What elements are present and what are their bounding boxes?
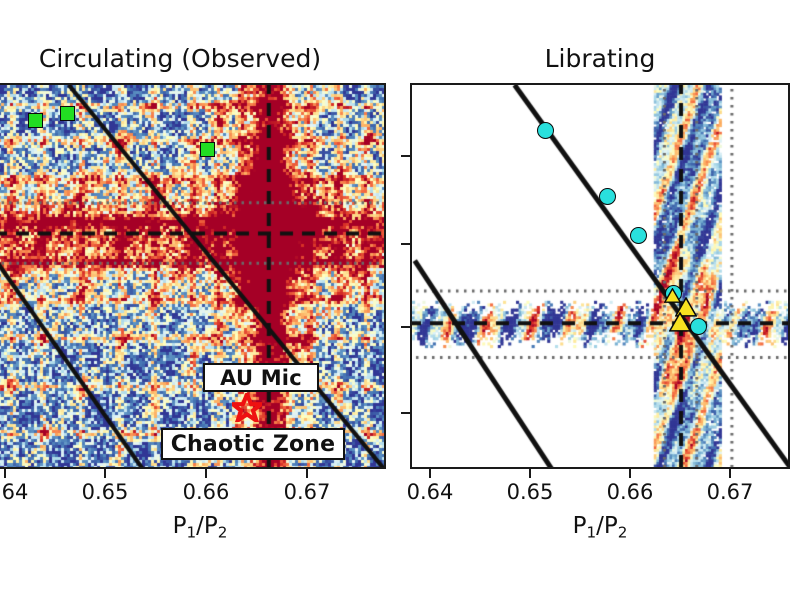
xtick-right-1 [529,469,531,478]
xticklabel-left-1: 0.65 [65,480,145,504]
xtick-left-2 [205,469,207,478]
ytick-right-0 [401,155,410,157]
xticklabel-left-2: 0.66 [166,480,246,504]
plot-axes-librating [410,83,790,469]
xaxis-label-left: P1/P2 [100,513,300,541]
xtick-left-1 [104,469,106,478]
marker-cyan-circle-1 [537,122,554,139]
heatmap-librating [412,85,790,469]
plot-axes-circulating [0,83,386,469]
marker-green-square-1 [28,113,43,128]
xtick-right-0 [429,469,431,478]
xtick-left-3 [306,469,308,478]
ytick-right-1 [401,243,410,245]
ytick-right-3 [401,412,410,414]
marker-star-au-mic [232,393,262,422]
xticklabel-right-2: 0.66 [590,480,670,504]
marker-cyan-circle-3 [630,227,647,244]
xticklabel-left-3: 0.67 [267,480,347,504]
xtick-left-0 [4,469,6,478]
xticklabel-right-0: 0.64 [390,480,470,504]
marker-green-square-3 [200,142,215,157]
panel-title-circulating: Circulating (Observed) [0,44,400,73]
xticklabel-right-3: 0.67 [690,480,770,504]
annotation-au-mic: AU Mic [203,363,319,392]
xaxis-label-right-text: P1/P2 [573,513,628,539]
marker-yellow-triangle-3 [669,312,691,332]
figure-root: Circulating (Observed) 0.64 0.65 0.66 0.… [0,0,800,600]
heatmap-circulating [0,85,386,469]
xticklabel-left-0: 0.64 [0,480,45,504]
xaxis-label-left-text: P1/P2 [173,513,228,539]
xtick-right-3 [729,469,731,478]
annotation-chaotic-zone: Chaotic Zone [161,428,345,460]
marker-green-square-2 [60,106,75,121]
marker-cyan-circle-5 [690,318,707,335]
marker-cyan-circle-2 [599,188,616,205]
panel-title-librating: Librating [410,44,790,73]
xaxis-label-right: P1/P2 [500,513,700,541]
ytick-right-2 [401,326,410,328]
xticklabel-right-1: 0.65 [490,480,570,504]
xtick-right-2 [629,469,631,478]
